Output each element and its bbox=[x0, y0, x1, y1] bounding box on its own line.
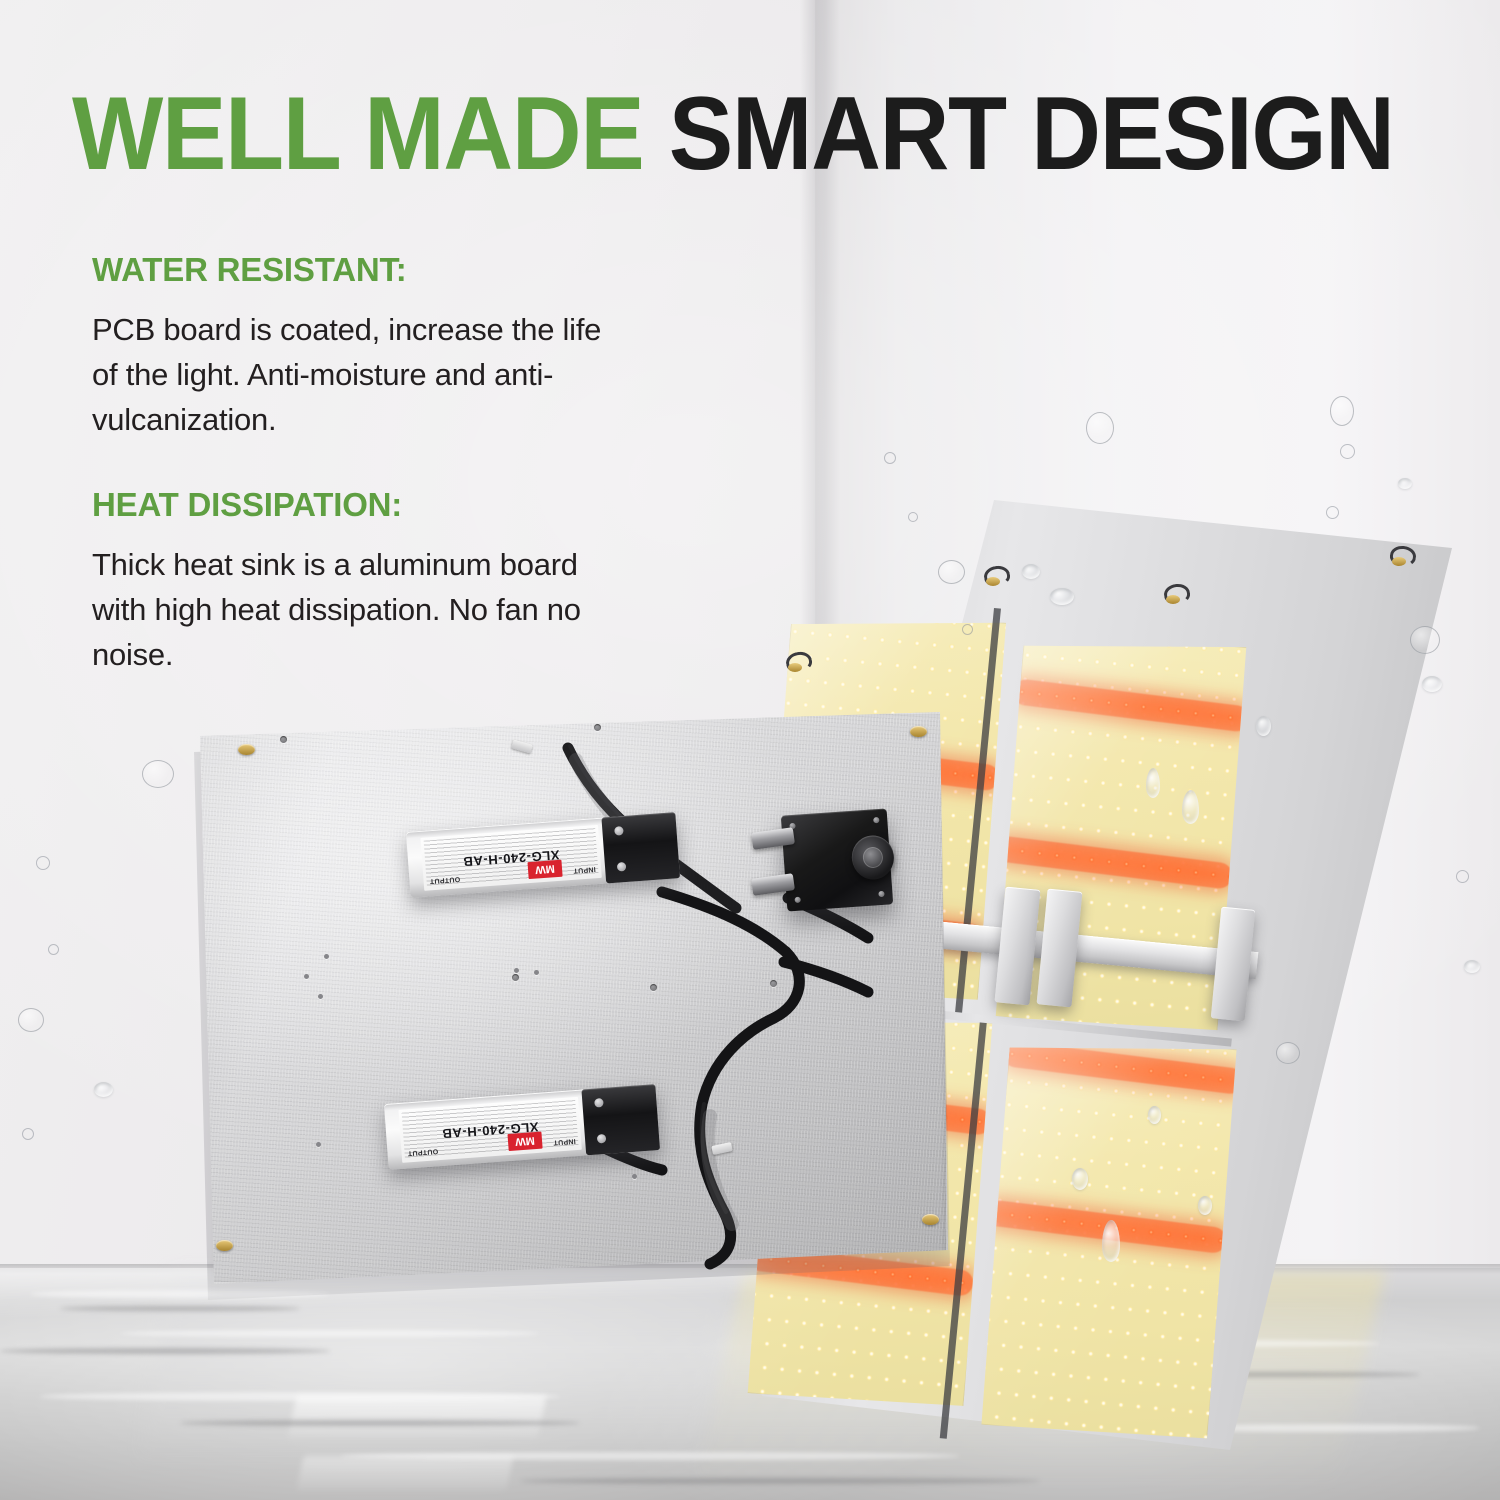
feature-title: WATER RESISTANT: bbox=[92, 252, 622, 288]
floor-ripple bbox=[340, 1452, 960, 1460]
water-droplet bbox=[1022, 564, 1040, 579]
water-droplet bbox=[908, 512, 918, 522]
floor-ripple bbox=[40, 1392, 560, 1401]
product-marketing-banner: WELL MADE SMART DESIGN WATER RESISTANT: … bbox=[0, 0, 1500, 1500]
meanwell-logo: MW bbox=[507, 1132, 542, 1151]
water-droplet bbox=[1398, 478, 1412, 489]
floor-ripple bbox=[520, 1478, 1040, 1484]
water-droplet bbox=[1276, 1042, 1300, 1064]
water-droplet bbox=[1256, 716, 1271, 736]
aluminum-heat-sink-back: XLG-240-H-AB MW OUTPUT INPUT XLG-240-H-A… bbox=[196, 712, 948, 1284]
water-droplet bbox=[1464, 960, 1480, 973]
floor-ripple bbox=[0, 1348, 330, 1354]
driver-terminal-housing bbox=[581, 1084, 660, 1155]
water-droplet bbox=[1330, 396, 1354, 426]
water-droplet bbox=[1410, 626, 1440, 654]
water-droplet bbox=[1422, 676, 1442, 692]
feature-body: PCB board is coated, increase the life o… bbox=[92, 307, 622, 442]
driver-spec-label: XLG-240-H-AB MW OUTPUT INPUT bbox=[420, 825, 601, 891]
driver-spec-label: XLG-240-H-AB MW OUTPUT INPUT bbox=[398, 1097, 581, 1163]
hook-eyelet bbox=[1392, 557, 1406, 566]
dimmer-control-box[interactable] bbox=[781, 808, 893, 911]
floor-ripple bbox=[120, 1330, 540, 1337]
hook-eyelet bbox=[788, 663, 802, 672]
water-droplet bbox=[1086, 412, 1114, 444]
headline-part-green: WELL MADE bbox=[72, 76, 643, 192]
floor-ripple bbox=[60, 1306, 300, 1311]
headline-part-dark: SMART DESIGN bbox=[669, 76, 1394, 192]
water-droplet bbox=[1146, 768, 1160, 798]
wiring-harness bbox=[196, 712, 948, 1284]
hook-eyelet bbox=[1166, 595, 1180, 604]
page-headline: WELL MADE SMART DESIGN bbox=[72, 82, 1355, 186]
feature-block-heat-dissipation: HEAT DISSIPATION: Thick heat sink is a a… bbox=[92, 487, 622, 677]
water-droplet bbox=[884, 452, 896, 464]
feature-block-water-resistant: WATER RESISTANT: PCB board is coated, in… bbox=[92, 252, 622, 442]
driver-terminal-housing bbox=[601, 812, 680, 883]
water-droplet bbox=[36, 856, 50, 870]
meanwell-logo: MW bbox=[527, 860, 562, 879]
water-droplet bbox=[1050, 588, 1074, 605]
water-droplet bbox=[962, 624, 973, 635]
hook-eyelet bbox=[986, 577, 1000, 586]
water-droplet bbox=[18, 1008, 44, 1032]
water-droplet bbox=[1102, 1220, 1120, 1262]
floor-ripple bbox=[180, 1420, 580, 1426]
water-droplet bbox=[1182, 790, 1199, 824]
water-droplet bbox=[1326, 506, 1339, 519]
water-droplet bbox=[48, 944, 59, 955]
feature-title: HEAT DISSIPATION: bbox=[92, 487, 622, 523]
water-droplet bbox=[94, 1082, 113, 1097]
water-droplet bbox=[22, 1128, 34, 1140]
dimmer-dial-icon bbox=[862, 846, 885, 870]
water-droplet bbox=[1340, 444, 1355, 459]
feature-body: Thick heat sink is a aluminum board with… bbox=[92, 542, 622, 677]
water-droplet bbox=[142, 760, 174, 788]
water-droplet bbox=[1148, 1106, 1161, 1124]
water-droplet bbox=[938, 560, 965, 584]
water-droplet bbox=[1072, 1168, 1088, 1190]
water-droplet bbox=[1198, 1196, 1212, 1215]
water-droplet bbox=[1456, 870, 1469, 883]
